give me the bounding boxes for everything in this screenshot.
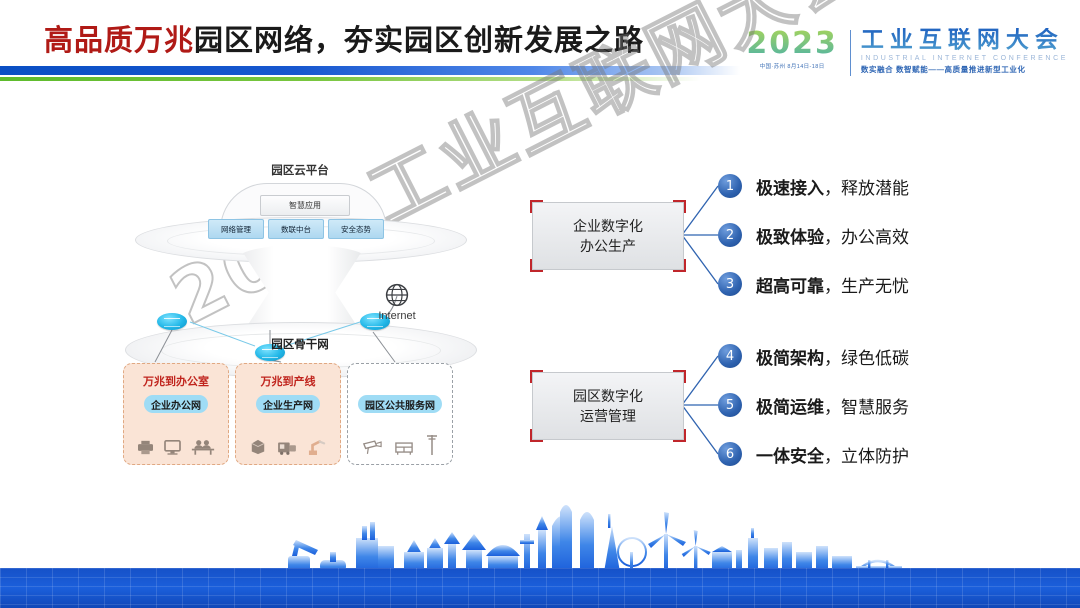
logo-slogan: 数实融合 数智赋能——高质量推进新型工业化 xyxy=(861,64,1068,75)
page-title-rest: 园区网络，夯实园区创新发展之路 xyxy=(194,23,644,57)
benefit-number-2: 2 xyxy=(718,223,742,247)
node-enterprise-digital-line1: 企业数字化 xyxy=(573,216,643,236)
corner-marker-bl xyxy=(530,429,543,442)
zone-office-network: 企业办公网 xyxy=(144,395,208,413)
cctv-camera-icon xyxy=(362,440,382,455)
monitor-icon xyxy=(164,440,181,455)
zone-production-icons xyxy=(236,438,340,455)
city-skyline-graphic xyxy=(0,494,1080,572)
logo-year-block: 2023 中国·苏州 8月14日-18日 xyxy=(746,28,850,70)
zone-production-title: 万兆到产线 xyxy=(236,373,340,389)
printer-icon xyxy=(137,440,154,455)
benefit-item-4: 4 极简架构，绿色低碳 xyxy=(718,341,909,371)
logo-name-en: INDUSTRIAL INTERNET CONFERENCE xyxy=(861,55,1068,62)
zone-production-network: 企业生产网 xyxy=(256,395,320,413)
logo-name-cn: 工业互联网大会 xyxy=(861,28,1068,53)
zone-office-title: 万兆到办公室 xyxy=(124,373,228,389)
zone-public-service-network: 园区公共服务网 xyxy=(358,395,442,413)
logo-date: 中国·苏州 8月14日-18日 xyxy=(746,62,838,70)
benefit-number-1: 1 xyxy=(718,174,742,198)
node-park-digital-line2: 运营管理 xyxy=(573,406,643,426)
benefit-number-3: 3 xyxy=(718,272,742,296)
package-icon xyxy=(250,439,266,455)
robot-arm-icon xyxy=(308,438,326,455)
benefit-text-3: 超高可靠，生产无忧 xyxy=(756,272,909,297)
node-enterprise-digital-line2: 办公生产 xyxy=(573,236,643,256)
zone-office: 万兆到办公室 企业办公网 xyxy=(123,363,229,465)
backbone-network-label: 园区骨干网 xyxy=(230,336,370,352)
zone-office-icons xyxy=(124,439,228,455)
logo-year: 2023 xyxy=(746,28,838,59)
slide: 高品质万兆园区网络，夯实园区创新发展之路 2023 中国·苏州 8月14日-18… xyxy=(0,0,1080,608)
node-enterprise-digital[interactable]: 企业数字化 办公生产 xyxy=(532,202,684,270)
zone-production: 万兆到产线 企业生产网 xyxy=(235,363,341,465)
benefit-item-1: 1 极速接入，释放潜能 xyxy=(718,171,909,201)
park-network-diagram: 园区云平台 智慧应用 网络管理 数联中台 安全态势 园区骨干网 xyxy=(95,150,495,490)
node-park-digital-line1: 园区数字化 xyxy=(573,386,643,406)
benefit-number-4: 4 xyxy=(718,344,742,368)
footer-grid-band xyxy=(0,568,1080,608)
corner-marker-br xyxy=(673,259,686,272)
benefit-text-4: 极简架构，绿色低碳 xyxy=(756,344,909,369)
benefit-number-5: 5 xyxy=(718,393,742,417)
benefit-item-6: 6 一体安全，立体防护 xyxy=(718,439,909,469)
benefit-number-6: 6 xyxy=(718,442,742,466)
header-rule-green xyxy=(0,77,700,81)
node-park-digital[interactable]: 园区数字化 运营管理 xyxy=(532,372,684,440)
corner-marker-tr xyxy=(673,200,686,213)
slide-footer xyxy=(0,498,1080,608)
corner-marker-tr xyxy=(673,370,686,383)
meeting-room-icon xyxy=(191,439,215,455)
benefit-text-5: 极简运维，智慧服务 xyxy=(756,393,909,418)
benefit-text-1: 极速接入，释放潜能 xyxy=(756,174,909,199)
corner-marker-br xyxy=(673,429,686,442)
benefit-item-2: 2 极致体验，办公高效 xyxy=(718,220,909,250)
zone-public-service: 园区公共服务网 xyxy=(347,363,453,465)
benefit-text-6: 一体安全，立体防护 xyxy=(756,442,909,467)
street-lamp-icon xyxy=(426,433,438,455)
internet-label: Internet xyxy=(365,310,429,322)
benefit-item-3: 3 超高可靠，生产无忧 xyxy=(718,269,909,299)
zone-public-service-icons xyxy=(348,433,452,455)
machine-icon xyxy=(277,439,297,455)
router-icon-left xyxy=(157,313,187,330)
bench-icon xyxy=(395,441,413,455)
logo-name-block: 工业互联网大会 INDUSTRIAL INTERNET CONFERENCE 数… xyxy=(861,28,1068,75)
page-title-highlight: 高品质万兆 xyxy=(44,23,194,57)
corner-marker-tl xyxy=(530,200,543,213)
slide-header: 高品质万兆园区网络，夯实园区创新发展之路 2023 中国·苏州 8月14日-18… xyxy=(0,0,1080,100)
globe-icon xyxy=(385,283,409,307)
corner-marker-bl xyxy=(530,259,543,272)
benefit-item-5: 5 极简运维，智慧服务 xyxy=(718,390,909,420)
page-title: 高品质万兆园区网络，夯实园区创新发展之路 xyxy=(44,20,644,60)
benefits-panel: 企业数字化 办公生产 园区数字化 运营管理 1 极速接入，释放潜能 2 极致体验… xyxy=(520,150,1060,500)
benefit-text-2: 极致体验，办公高效 xyxy=(756,223,909,248)
conference-logo: 2023 中国·苏州 8月14日-18日 工业互联网大会 INDUSTRIAL … xyxy=(746,28,1068,82)
corner-marker-tl xyxy=(530,370,543,383)
logo-divider xyxy=(850,30,851,76)
header-rule-blue xyxy=(0,66,740,75)
